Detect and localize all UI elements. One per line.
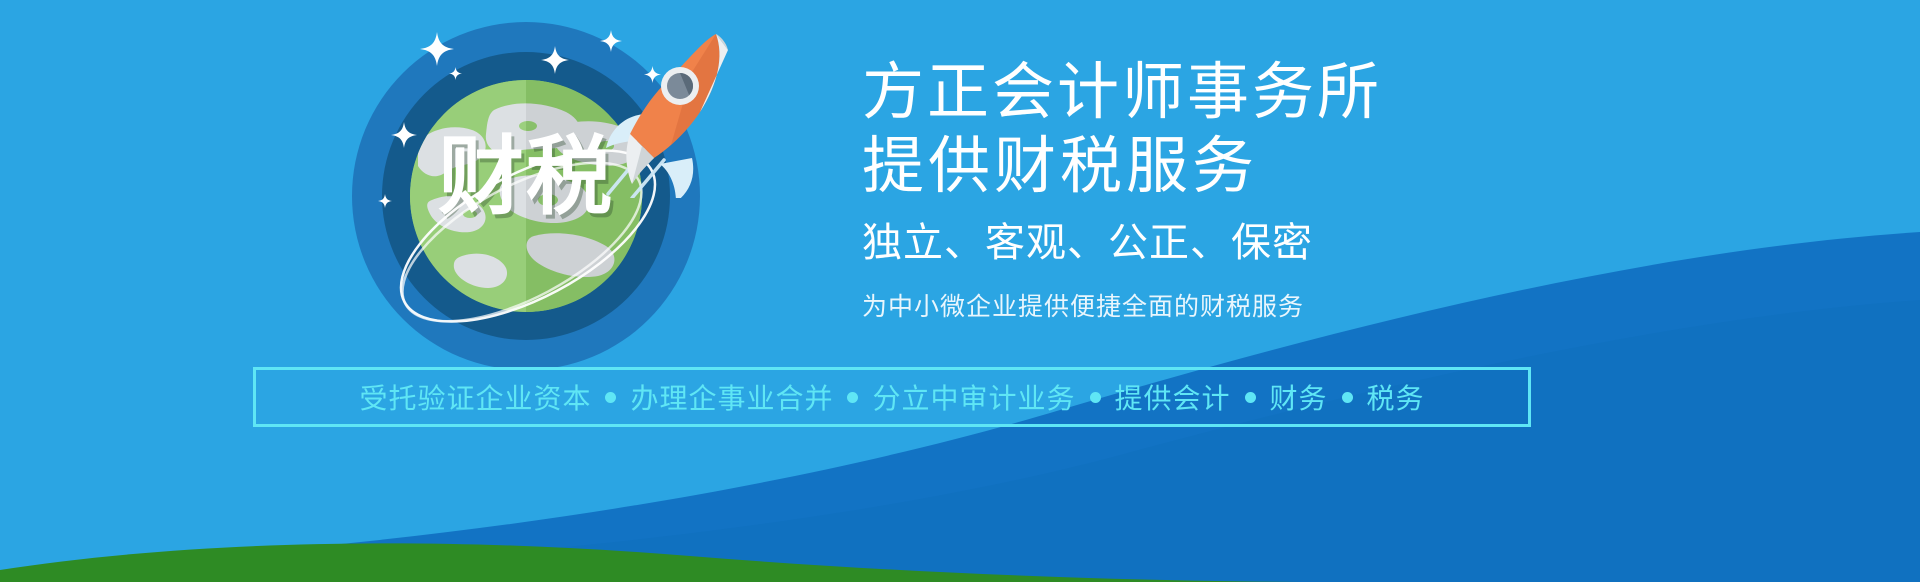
- headline-line-2: 提供财税服务: [862, 130, 1562, 204]
- wave-green-bottom: [0, 543, 1300, 582]
- services-box: 受托验证企业资本办理企事业合并分立中审计业务提供会计财务税务: [253, 367, 1531, 427]
- headline-group: 方正会计师事务所 提供财税服务 独立、客观、公正、保密 为中小微企业提供便捷全面…: [862, 56, 1562, 324]
- service-item[interactable]: 提供会计: [1115, 377, 1231, 417]
- service-item[interactable]: 财务: [1270, 377, 1328, 417]
- service-item[interactable]: 受托验证企业资本: [359, 377, 591, 417]
- tagline: 为中小微企业提供便捷全面的财税服务: [862, 290, 1562, 324]
- service-separator-dot: [1245, 392, 1256, 403]
- headline-line-1: 方正会计师事务所: [862, 56, 1562, 130]
- service-item[interactable]: 税务: [1367, 377, 1425, 417]
- service-separator-dot: [847, 392, 858, 403]
- marketing-banner: 财税: [0, 0, 1920, 582]
- rocket-illustration: [592, 18, 742, 198]
- services-list: 受托验证企业资本办理企事业合并分立中审计业务提供会计财务税务: [359, 377, 1424, 417]
- subheadline: 独立、客观、公正、保密: [862, 214, 1562, 272]
- rocket-fin-right: [660, 158, 693, 198]
- service-item[interactable]: 办理企事业合并: [630, 377, 833, 417]
- service-item[interactable]: 分立中审计业务: [872, 377, 1075, 417]
- service-separator-dot: [1090, 392, 1101, 403]
- rocket-icon: [592, 18, 742, 198]
- service-separator-dot: [1342, 392, 1353, 403]
- service-separator-dot: [605, 392, 616, 403]
